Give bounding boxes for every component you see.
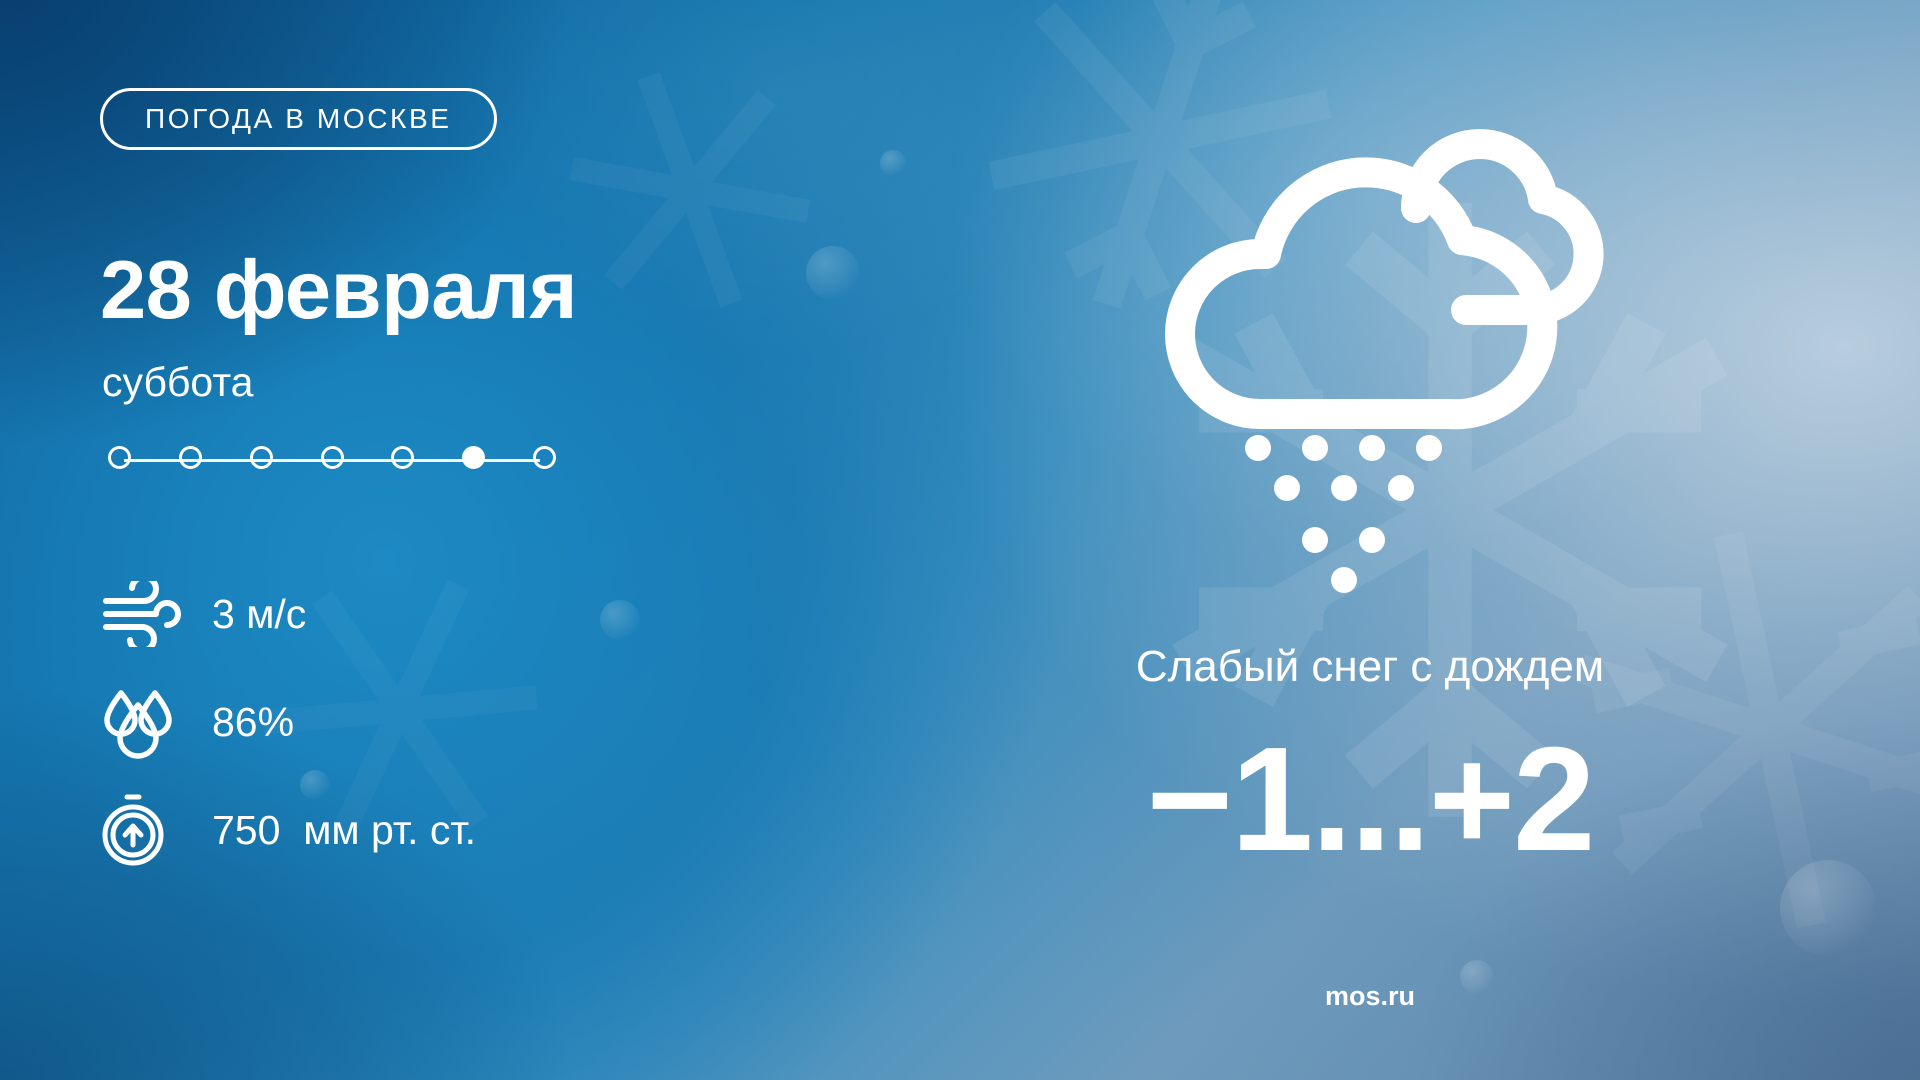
weather-metrics-list: 3 м/с86%750 мм рт. ст.: [100, 560, 720, 884]
week-progress-indicator[interactable]: [108, 443, 556, 477]
cloud-sleet-icon: [1110, 96, 1630, 516]
weather-infographic: ПОГОДА В МОСКВЕ 28 февраля суббота 3 м/с…: [0, 0, 1920, 1080]
metric-value-pressure: 750 мм рт. ст.: [212, 810, 476, 851]
pressure-icon: [100, 791, 212, 869]
metric-row-humidity: 86%: [100, 668, 720, 776]
precipitation-dots-lower: [1110, 516, 1630, 626]
city-weather-badge: ПОГОДА В МОСКВЕ: [100, 88, 497, 150]
city-weather-badge-label: ПОГОДА В МОСКВЕ: [145, 103, 452, 135]
left-panel: ПОГОДА В МОСКВЕ 28 февраля суббота 3 м/с…: [100, 0, 800, 1080]
metric-row-pressure: 750 мм рт. ст.: [100, 776, 720, 884]
week-progress-dot[interactable]: [533, 446, 556, 469]
metric-value-humidity: 86%: [212, 702, 294, 743]
date-weekday: суббота: [102, 362, 253, 403]
precipitation-dots: [1245, 435, 1442, 501]
weather-condition-text: Слабый снег с дождем: [820, 645, 1920, 689]
date-day-month: 28 февраля: [100, 248, 577, 331]
wind-icon: [100, 581, 212, 647]
metric-value-wind: 3 м/с: [212, 594, 306, 635]
metric-row-wind: 3 м/с: [100, 560, 720, 668]
week-progress-dot[interactable]: [108, 446, 131, 469]
temperature-range: −1...+2: [820, 726, 1920, 874]
week-progress-dot[interactable]: [391, 446, 414, 469]
week-progress-dot[interactable]: [179, 446, 202, 469]
site-footer-label: mos.ru: [820, 983, 1920, 1010]
week-progress-dot[interactable]: [321, 446, 344, 469]
right-panel: Слабый снег с дождем −1...+2 mos.ru: [820, 0, 1920, 1080]
week-progress-dot[interactable]: [462, 446, 485, 469]
humidity-icon: [100, 683, 212, 761]
week-progress-dot[interactable]: [250, 446, 273, 469]
